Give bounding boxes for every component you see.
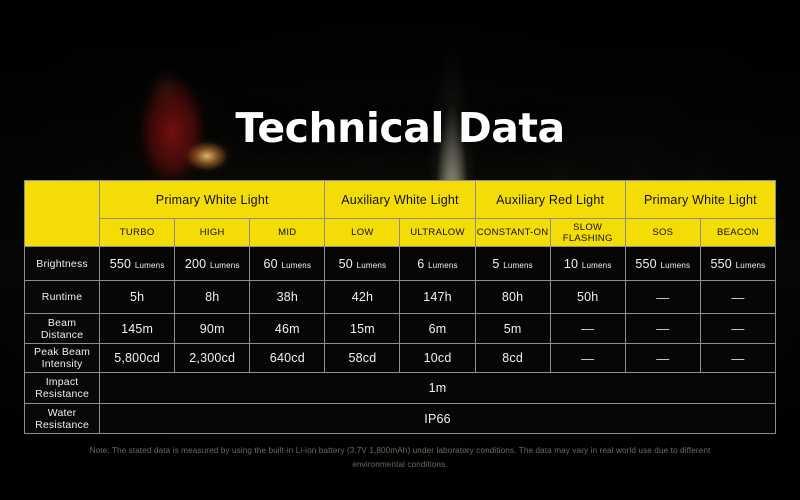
brightness-constant-on: 5 Lumens [475,247,550,281]
mode-header-turbo: TURBO [100,219,175,247]
runtime-mid: 38h [250,281,325,314]
impact-resistance-value: 1m [100,373,776,404]
mode-header-mid: MID [250,219,325,247]
footnote-line-1: Note: The stated data is measured by usi… [90,446,598,455]
runtime-beacon: — [700,281,775,314]
unit: Lumens [503,261,533,270]
value: 50 [339,257,353,271]
row-label-water-resistance: WaterResistance [25,404,100,434]
beam-distance-mid: 46m [250,314,325,344]
group-header-auxiliary-red-light: Auxiliary Red Light [475,181,625,219]
row-label-beam-distance: BeamDistance [25,314,100,344]
unit: Lumens [582,261,612,270]
mode-header-ultralow: ULTRALOW [400,219,475,247]
label-line-2: Intensity [42,358,83,370]
runtime-ultralow: 147h [400,281,475,314]
beam-distance-sos: — [625,314,700,344]
runtime-slow-flashing: 50h [550,281,625,314]
label-line-1: Impact [46,376,79,388]
mode-header-constant-on: CONSTANT-ON [475,219,550,247]
value: 60 [263,257,277,271]
beam-distance-slow-flashing: — [550,314,625,344]
footnote: Note: The stated data is measured by usi… [70,444,730,472]
runtime-sos: — [625,281,700,314]
table-row-peak-beam-intensity: Peak BeamIntensity 5,800cd 2,300cd 640cd… [25,344,776,373]
group-header-primary-white-light-2: Primary White Light [625,181,775,219]
mode-header-sos: SOS [625,219,700,247]
label-line-2: Distance [41,329,83,341]
runtime-low: 42h [325,281,400,314]
brightness-ultralow: 6 Lumens [400,247,475,281]
water-resistance-value: IP66 [100,404,776,434]
unit: Lumens [135,261,165,270]
page-title: Technical Data [0,104,800,152]
beam-distance-constant-on: 5m [475,314,550,344]
brightness-low: 50 Lumens [325,247,400,281]
label-line-1: Peak Beam [34,346,90,358]
mode-header-high: HIGH [175,219,250,247]
brightness-mid: 60 Lumens [250,247,325,281]
peak-beam-mid: 640cd [250,344,325,373]
table-row-brightness: Brightness 550 Lumens 200 Lumens 60 Lume… [25,247,776,281]
beam-distance-turbo: 145m [100,314,175,344]
row-label-impact-resistance: ImpactResistance [25,373,100,404]
technical-data-page: Technical Data Primary White Light Auxil… [0,0,800,500]
value: 6 [417,257,424,271]
runtime-high: 8h [175,281,250,314]
table-mode-header-row: TURBO HIGH MID LOW ULTRALOW CONSTANT-ON … [25,219,776,247]
unit: Lumens [281,261,311,270]
beam-distance-high: 90m [175,314,250,344]
label-line-1: Beam [48,317,76,329]
peak-beam-low: 58cd [325,344,400,373]
row-label-runtime: Runtime [25,281,100,314]
value: 550 [635,257,656,271]
brightness-high: 200 Lumens [175,247,250,281]
technical-data-table: Primary White Light Auxiliary White Ligh… [24,180,776,434]
brightness-slow-flashing: 10 Lumens [550,247,625,281]
peak-beam-sos: — [625,344,700,373]
brightness-turbo: 550 Lumens [100,247,175,281]
mode-header-low: LOW [325,219,400,247]
peak-beam-ultralow: 10cd [400,344,475,373]
value: 550 [110,257,131,271]
mode-header-slow-flashing: SLOW FLASHING [550,219,625,247]
peak-beam-constant-on: 8cd [475,344,550,373]
table-row-water-resistance: WaterResistance IP66 [25,404,776,434]
table-row-beam-distance: BeamDistance 145m 90m 46m 15m 6m 5m — — … [25,314,776,344]
runtime-turbo: 5h [100,281,175,314]
brightness-beacon: 550 Lumens [700,247,775,281]
label-line-2: Resistance [35,388,89,400]
unit: Lumens [661,261,691,270]
unit: Lumens [428,261,458,270]
table-row-impact-resistance: ImpactResistance 1m [25,373,776,404]
label-line-1: Water [48,407,77,419]
peak-beam-slow-flashing: — [550,344,625,373]
mode-header-beacon: BEACON [700,219,775,247]
value: 5 [492,257,499,271]
group-header-primary-white-light-1: Primary White Light [100,181,325,219]
unit: Lumens [357,261,387,270]
row-label-brightness: Brightness [25,247,100,281]
peak-beam-turbo: 5,800cd [100,344,175,373]
value: 10 [564,257,578,271]
label-line-2: Resistance [35,419,89,431]
group-header-auxiliary-white-light: Auxiliary White Light [325,181,475,219]
beam-distance-low: 15m [325,314,400,344]
unit: Lumens [210,261,240,270]
row-label-peak-beam-intensity: Peak BeamIntensity [25,344,100,373]
value: 550 [711,257,732,271]
unit: Lumens [736,261,766,270]
peak-beam-beacon: — [700,344,775,373]
beam-distance-ultralow: 6m [400,314,475,344]
peak-beam-high: 2,300cd [175,344,250,373]
value: 200 [185,257,206,271]
brightness-sos: 550 Lumens [625,247,700,281]
beam-distance-beacon: — [700,314,775,344]
table-group-header-row: Primary White Light Auxiliary White Ligh… [25,181,776,219]
table-corner-cell [25,181,100,247]
table-row-runtime: Runtime 5h 8h 38h 42h 147h 80h 50h — — [25,281,776,314]
runtime-constant-on: 80h [475,281,550,314]
